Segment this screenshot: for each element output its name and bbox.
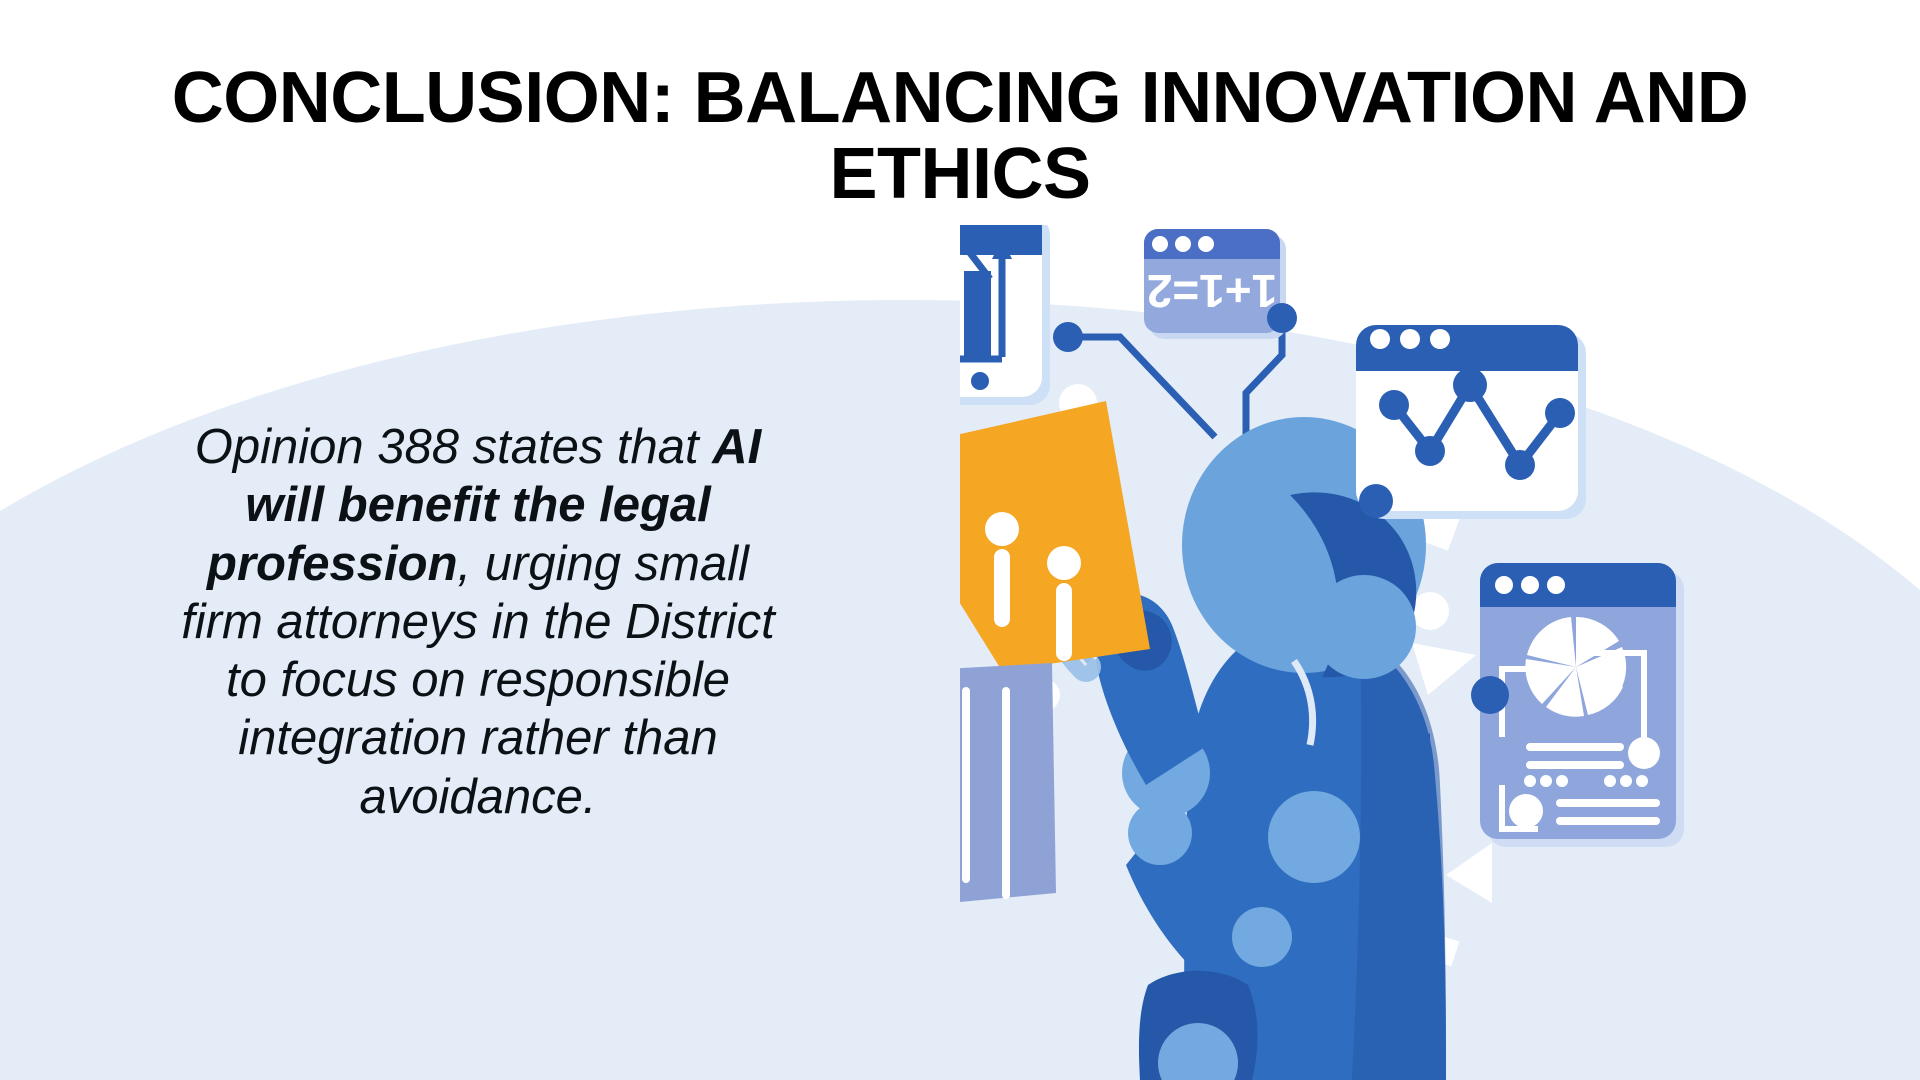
bar-chart-card[interactable] [960,225,1083,405]
robot-eye [1312,575,1416,679]
body-paragraph: Opinion 388 states that AI will benefit … [168,418,788,826]
robot-wrist-joint [1232,907,1292,967]
slide-canvas: CONCLUSION: BALANCING INNOVATION AND ETH… [0,0,1920,1080]
page-title: CONCLUSION: BALANCING INNOVATION AND ETH… [60,60,1860,213]
pie-report-card[interactable] [1471,563,1684,847]
ai-robot-analytics-illustration: 1+1=2 [960,225,1920,1080]
bar-card-connector-node [1053,322,1083,352]
formula-card-connector-node [1267,303,1297,333]
formula-card[interactable]: 1+1=2 [1144,229,1297,339]
robot-torso-shadow [1352,635,1446,1080]
blue-document-panel [960,663,1056,913]
robot-chest-joint [1268,791,1360,883]
line-card-connector-node [1359,484,1393,518]
formula-card-text: 1+1=2 [1147,265,1277,317]
body-lead: Opinion 388 states that [195,420,713,474]
formula-card-header-dots [1152,236,1214,252]
orange-data-panel [960,401,1150,671]
pie-card-header-dots [1495,576,1565,594]
line-chart-card[interactable] [1356,325,1586,519]
robot-elbow-joint [1128,801,1192,865]
pie-card-connector-node [1471,676,1509,714]
line-card-header-dots [1370,329,1450,349]
